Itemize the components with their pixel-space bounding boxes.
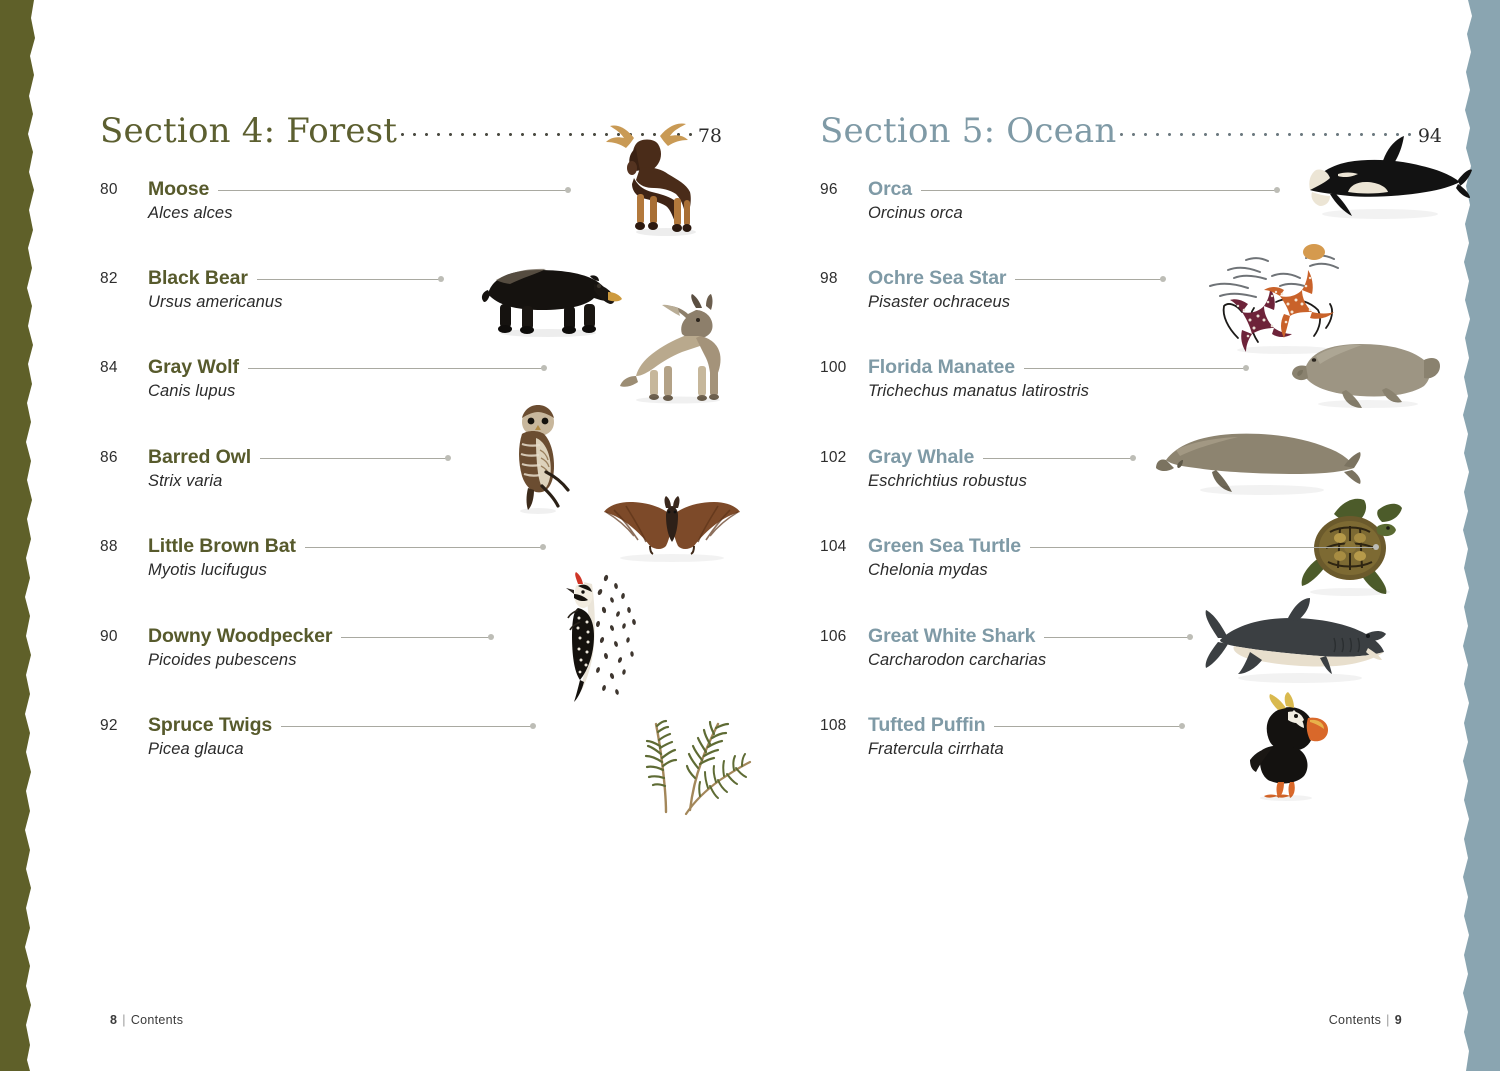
entry-title[interactable]: Gray Whale	[868, 446, 974, 469]
entry-title[interactable]: Florida Manatee	[868, 356, 1015, 379]
entry-latin-name: Trichechus manatus latirostris	[868, 382, 1420, 401]
entry-latin-name: Strix varia	[148, 472, 700, 491]
entry-row[interactable]: 102 Gray Whale Eschrichtius robustus	[820, 446, 1420, 504]
entry-row[interactable]: 100 Florida Manatee Trichechus manatus l…	[820, 356, 1420, 414]
entry-latin-name: Picea glauca	[148, 740, 700, 759]
footer-label: Contents	[131, 1013, 183, 1027]
section-title-ocean: Section 5: Ocean	[820, 111, 1116, 151]
entry-page-number: 108	[820, 717, 862, 735]
entry-page-number: 104	[820, 538, 862, 556]
entry-connector	[257, 274, 443, 284]
footer-label: Contents	[1329, 1013, 1381, 1027]
entry-latin-name: Eschrichtius robustus	[868, 472, 1420, 491]
entry-title[interactable]: Tufted Puffin	[868, 714, 985, 737]
entry-latin-name: Canis lupus	[148, 382, 700, 401]
entry-row[interactable]: 104 Green Sea Turtle Chelonia mydas	[820, 535, 1420, 593]
entry-title[interactable]: Great White Shark	[868, 625, 1035, 648]
contents-spread: Section 4: Forest 78	[0, 0, 1500, 1071]
entry-connector	[994, 721, 1184, 731]
entry-page-number: 90	[100, 628, 142, 646]
entry-latin-name: Myotis lucifugus	[148, 561, 700, 580]
entry-latin-name: Fratercula cirrhata	[868, 740, 1420, 759]
entry-title[interactable]: Barred Owl	[148, 446, 251, 469]
entry-title[interactable]: Little Brown Bat	[148, 535, 296, 558]
entry-latin-name: Orcinus orca	[868, 204, 1420, 223]
entry-page-number: 102	[820, 449, 862, 467]
entry-connector	[921, 185, 1279, 195]
entry-row[interactable]: 106 Great White Shark Carcharodon carcha…	[820, 625, 1420, 683]
entry-connector	[248, 363, 546, 373]
leader-dots-ocean	[1120, 108, 1411, 142]
entry-page-number: 96	[820, 181, 862, 199]
entry-latin-name: Alces alces	[148, 204, 700, 223]
entry-page-number: 98	[820, 270, 862, 288]
entry-connector	[983, 453, 1135, 463]
entry-connector	[305, 542, 545, 552]
entry-page-number: 86	[100, 449, 142, 467]
entry-page-number: 92	[100, 717, 142, 735]
entry-connector	[1024, 363, 1248, 373]
entry-row[interactable]: 108 Tufted Puffin Fratercula cirrhata	[820, 714, 1420, 772]
entry-row[interactable]: 98 Ochre Sea Star Pisaster ochraceus	[820, 267, 1420, 325]
section-heading-forest: Section 4: Forest 78	[100, 108, 722, 156]
page-left-forest: Section 4: Forest 78	[62, 0, 722, 1071]
entry-latin-name: Pisaster ochraceus	[868, 293, 1420, 312]
entry-page-number: 82	[100, 270, 142, 288]
entry-title[interactable]: Orca	[868, 178, 912, 201]
entry-row[interactable]: 82 Black Bear Ursus americanus	[100, 267, 700, 325]
section-heading-ocean: Section 5: Ocean 94	[820, 108, 1442, 156]
entry-latin-name: Picoides pubescens	[148, 651, 700, 670]
entry-connector	[260, 453, 450, 463]
leader-dots-forest	[401, 108, 692, 142]
entry-title[interactable]: Spruce Twigs	[148, 714, 272, 737]
footer-left: 8|Contents	[110, 1013, 183, 1027]
entry-row[interactable]: 80 Moose Alces alces	[100, 178, 700, 236]
entry-title[interactable]: Black Bear	[148, 267, 248, 290]
entry-connector	[1030, 542, 1378, 552]
section-title-forest: Section 4: Forest	[100, 111, 397, 151]
footer-right: Contents|9	[1329, 1013, 1402, 1027]
entry-title[interactable]: Green Sea Turtle	[868, 535, 1021, 558]
entry-latin-name: Chelonia mydas	[868, 561, 1420, 580]
entry-page-number: 106	[820, 628, 862, 646]
entry-page-number: 80	[100, 181, 142, 199]
entry-latin-name: Carcharodon carcharias	[868, 651, 1420, 670]
entry-title[interactable]: Gray Wolf	[148, 356, 239, 379]
entry-row[interactable]: 96 Orca Orcinus orca	[820, 178, 1420, 236]
entry-row[interactable]: 86 Barred Owl Strix varia	[100, 446, 700, 504]
page-right-ocean: Section 5: Ocean 94	[782, 0, 1442, 1071]
entry-title[interactable]: Ochre Sea Star	[868, 267, 1006, 290]
entry-row[interactable]: 84 Gray Wolf Canis lupus	[100, 356, 700, 414]
entry-page-number: 100	[820, 359, 862, 377]
entry-row[interactable]: 90 Downy Woodpecker Picoides pubescens	[100, 625, 700, 683]
entry-title[interactable]: Downy Woodpecker	[148, 625, 332, 648]
entry-row[interactable]: 88 Little Brown Bat Myotis lucifugus	[100, 535, 700, 593]
entry-connector	[1044, 632, 1192, 642]
section-page-number-forest: 78	[698, 125, 722, 147]
entry-title[interactable]: Moose	[148, 178, 209, 201]
entry-connector	[281, 721, 535, 731]
entry-connector	[218, 185, 570, 195]
entry-latin-name: Ursus americanus	[148, 293, 700, 312]
section-page-number-ocean: 94	[1418, 125, 1442, 147]
entry-row[interactable]: 92 Spruce Twigs Picea glauca	[100, 714, 700, 772]
entry-connector	[1015, 274, 1165, 284]
entry-page-number: 88	[100, 538, 142, 556]
page-spread: Section 4: Forest 78	[40, 0, 1460, 1071]
entry-page-number: 84	[100, 359, 142, 377]
entry-connector	[341, 632, 493, 642]
footer-page-number: 9	[1395, 1013, 1402, 1027]
